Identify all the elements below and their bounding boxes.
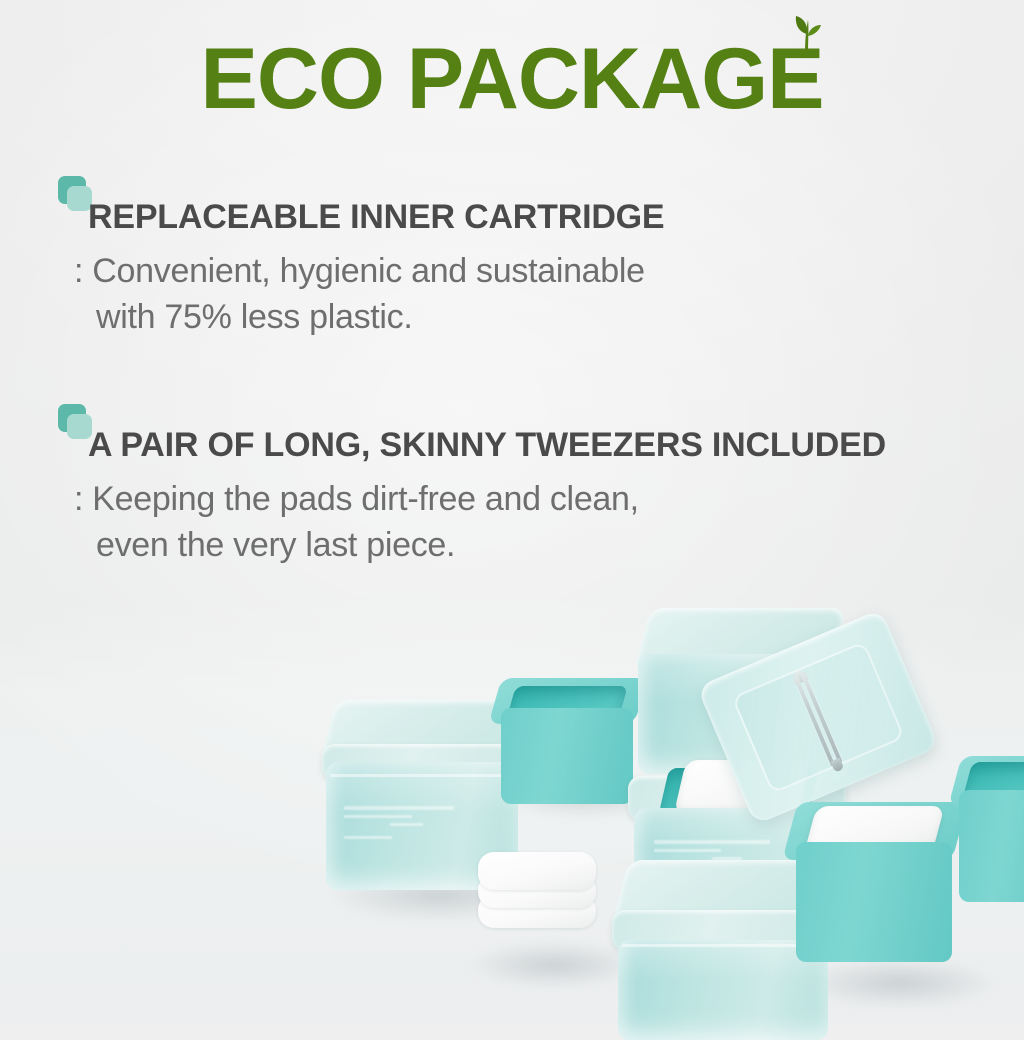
title-row: ECO PACKAGE <box>0 38 1024 121</box>
leaf-sprout-icon <box>785 14 829 58</box>
cartridge-body <box>959 790 1024 902</box>
cotton-pad <box>478 852 596 890</box>
teal-cartridge-filled-right <box>790 802 960 967</box>
feature-description-line: with 75% less plastic. <box>74 295 984 341</box>
feature-block-1: REPLACEABLE INNER CARTRIDGE : Convenient… <box>58 176 984 341</box>
cartridge-body <box>796 842 952 962</box>
title-wrap: ECO PACKAGE <box>201 38 824 121</box>
feature-description-1: : Convenient, hygienic and sustainable w… <box>74 249 984 341</box>
feature-heading-1: REPLACEABLE INNER CARTRIDGE <box>88 176 984 237</box>
product-photo <box>0 560 1024 1024</box>
content-area: ECO PACKAGE REPLACEABLE INNER CARTRIDGE … <box>0 0 1024 1024</box>
feature-description-line: : Keeping the pads dirt-free and clean, <box>74 477 984 523</box>
container-label <box>344 806 454 844</box>
feature-heading-line: A PAIR OF LONG, SKINNY <box>88 426 506 464</box>
feature-heading-2: A PAIR OF LONG, SKINNY TWEEZERS INCLUDED <box>88 404 984 465</box>
feature-description-2: : Keeping the pads dirt-free and clean, … <box>74 477 984 569</box>
page-title: ECO PACKAGE <box>201 38 824 121</box>
feature-heading-line: TWEEZERS INCLUDED <box>515 426 886 464</box>
feature-block-2: A PAIR OF LONG, SKINNY TWEEZERS INCLUDED… <box>58 404 984 569</box>
feature-heading-line: REPLACEABLE INNER CARTRIDGE <box>88 198 664 236</box>
pad-stack-white <box>478 850 598 940</box>
feature-description-line: : Convenient, hygienic and sustainable <box>74 249 984 295</box>
cartridge-body <box>501 708 633 804</box>
teal-cartridge-empty-upper-left <box>495 678 641 810</box>
container-seam <box>330 774 514 777</box>
teal-cartridge-empty-far-right <box>955 756 1024 906</box>
